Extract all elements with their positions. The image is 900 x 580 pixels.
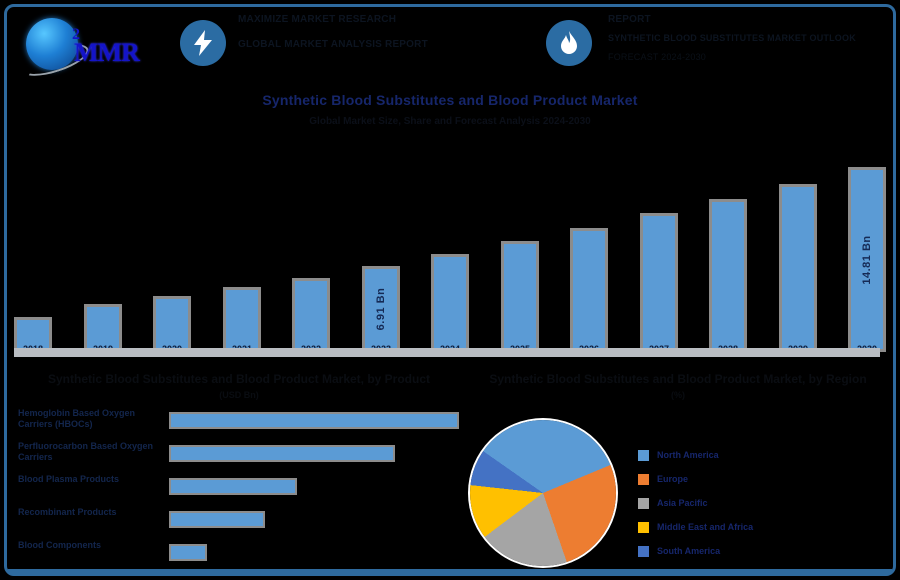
legend-swatch [638,498,649,509]
page-subtitle: Global Market Size, Share and Forecast A… [0,116,900,127]
product-bar-row: Perfluorocarbon Based Oxygen Carriers [14,441,464,471]
legend-item: Middle East and Africa [638,515,888,539]
header-line-2a: REPORT [608,14,898,25]
header-badge-text-1: MAXIMIZE MARKET RESEARCH GLOBAL MARKET A… [238,14,508,50]
region-pie-chart [470,420,616,566]
bar [570,228,608,352]
bar-column: 6.91 Bn [362,136,400,352]
infographic-poster: 2 MMR MAXIMIZE MARKET RESEARCH GLOBAL MA… [0,0,900,580]
bar-column [779,136,817,352]
globe-icon [26,18,78,70]
bar: 14.81 Bn [848,167,886,352]
bar [223,287,261,352]
region-section-subheading: (%) [470,390,886,400]
bottom-accent-strip [8,569,892,573]
product-bar-label: Blood Components [18,540,168,551]
product-bar [169,478,297,495]
legend-item: North America [638,443,888,467]
product-bar-label: Hemoglobin Based Oxygen Carriers (HBOCs) [18,408,168,430]
legend-swatch [638,546,649,557]
bar-column: 14.81 Bn [848,136,886,352]
poster-header: 2 MMR MAXIMIZE MARKET RESEARCH GLOBAL MA… [10,6,890,88]
bar [431,254,469,352]
logo-wordmark: MMR [74,38,139,68]
bar-column [709,136,747,352]
legend-item: Asia Pacific [638,491,888,515]
product-bar-row: Blood Components [14,540,464,570]
mmr-logo: 2 MMR [20,14,160,76]
product-bar-chart: Hemoglobin Based Oxygen Carriers (HBOCs)… [14,408,464,574]
legend-label: Europe [657,474,688,484]
header-badge-text-2: REPORT SYNTHETIC BLOOD SUBSTITUTES MARKE… [608,14,898,63]
bar-column [431,136,469,352]
product-bar-row: Hemoglobin Based Oxygen Carriers (HBOCs) [14,408,464,438]
legend-swatch [638,474,649,485]
product-section-heading: Synthetic Blood Substitutes and Blood Pr… [14,372,464,386]
header-line-2b: SYNTHETIC BLOOD SUBSTITUTES MARKET OUTLO… [608,33,898,44]
bar-column [14,136,52,352]
lightning-bolt-icon [180,20,226,66]
bar [292,278,330,352]
product-section-subheading: (USD Bn) [14,390,464,400]
bar-column [223,136,261,352]
bar-value-label: 14.81 Bn [861,235,873,284]
legend-swatch [638,450,649,461]
region-pie-legend: North AmericaEuropeAsia PacificMiddle Ea… [638,443,888,563]
product-bar-row: Recombinant Products [14,507,464,537]
legend-label: North America [657,450,719,460]
bar-column [640,136,678,352]
product-bar [169,544,207,561]
page-title: Synthetic Blood Substitutes and Blood Pr… [0,92,900,108]
legend-label: Middle East and Africa [657,522,753,532]
product-bar-label: Perfluorocarbon Based Oxygen Carriers [18,441,168,463]
bar-column [501,136,539,352]
legend-label: Asia Pacific [657,498,708,508]
legend-swatch [638,522,649,533]
bar-column [153,136,191,352]
header-line-2c: FORECAST 2024-2030 [608,52,898,63]
product-bar [169,445,395,462]
legend-label: South America [657,546,720,556]
product-bar-label: Blood Plasma Products [18,474,168,485]
product-bar-label: Recombinant Products [18,507,168,518]
legend-item: South America [638,539,888,563]
legend-item: Europe [638,467,888,491]
header-line-1a: MAXIMIZE MARKET RESEARCH [238,14,508,25]
market-size-bar-chart: 201820192020202120226.91 Bn2023202420252… [14,136,886,352]
bar [779,184,817,352]
product-bar [169,412,459,429]
region-section-heading: Synthetic Blood Substitutes and Blood Pr… [470,372,886,386]
product-bar [169,511,265,528]
header-line-1b: GLOBAL MARKET ANALYSIS REPORT [238,39,508,50]
bar-value-label: 6.91 Bn [375,288,387,331]
bar-column [292,136,330,352]
product-bar-row: Blood Plasma Products [14,474,464,504]
bar [640,213,678,352]
bar-column [570,136,608,352]
chart-axis-line [14,348,880,357]
flame-icon [546,20,592,66]
bar-column [84,136,122,352]
bar: 6.91 Bn [362,266,400,352]
bar [501,241,539,352]
bar [709,199,747,352]
